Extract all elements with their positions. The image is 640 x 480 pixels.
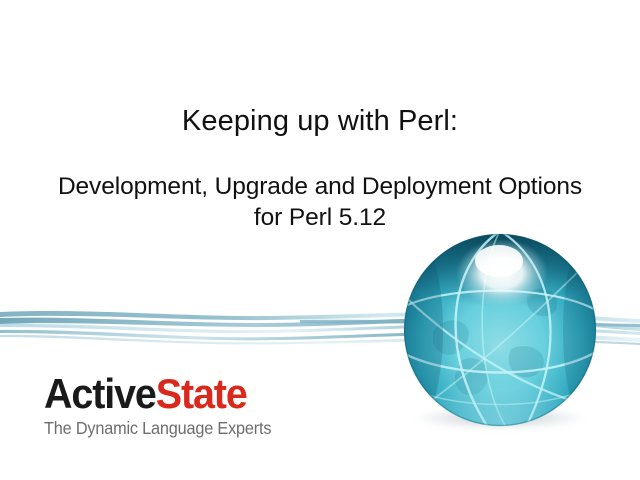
- page-title: Keeping up with Perl:: [0, 104, 640, 138]
- logo-word-active: Active: [44, 370, 156, 417]
- logo-wordmark: ActiveState: [44, 372, 274, 416]
- globe-sphere: [403, 233, 597, 427]
- logo-word-state: State: [156, 370, 247, 417]
- logo-tagline: The Dynamic Language Experts: [44, 418, 271, 438]
- subtitle-line-2: for Perl 5.12: [0, 202, 640, 233]
- presentation-title-slide: Keeping up with Perl: Development, Upgra…: [0, 0, 640, 480]
- page-subtitle: Development, Upgrade and Deployment Opti…: [0, 171, 640, 233]
- globe-graphic: [401, 231, 599, 435]
- activestate-logo: ActiveState The Dynamic Language Experts: [44, 372, 288, 438]
- subtitle-line-1: Development, Upgrade and Deployment Opti…: [0, 171, 640, 202]
